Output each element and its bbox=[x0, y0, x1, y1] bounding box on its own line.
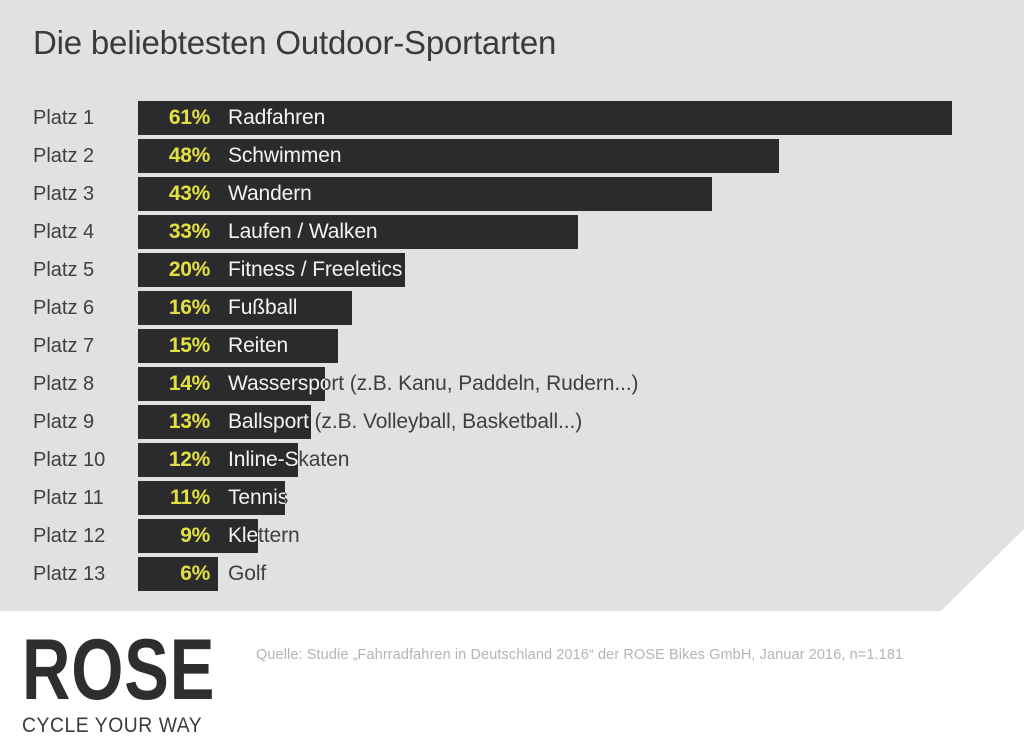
ranking-row: Platz 136%Golf6%Golf bbox=[0, 557, 1024, 595]
value-bar bbox=[138, 253, 405, 287]
value-bar bbox=[138, 405, 311, 439]
ranking-list: Platz 161%Radfahren61%RadfahrenPlatz 248… bbox=[0, 101, 1024, 595]
ranking-row: Platz 1111%Tennis11%Tennis bbox=[0, 481, 1024, 519]
ranking-row: Platz 129%Klettern9%Klettern bbox=[0, 519, 1024, 557]
rank-label: Platz 13 bbox=[33, 557, 105, 591]
infographic: Die beliebtesten Outdoor-Sportarten Plat… bbox=[0, 0, 1024, 744]
ranking-row: Platz 520%Fitness / Freeletics20%Fitness… bbox=[0, 253, 1024, 291]
value-bar bbox=[138, 519, 258, 553]
value-bar bbox=[138, 367, 325, 401]
value-bar bbox=[138, 557, 218, 591]
logo-wordmark: ROSE bbox=[22, 627, 186, 713]
value-bar bbox=[138, 139, 779, 173]
rank-label: Platz 6 bbox=[33, 291, 94, 325]
value-bar bbox=[138, 215, 578, 249]
page-title: Die beliebtesten Outdoor-Sportarten bbox=[33, 24, 556, 62]
rose-logo: ROSE CYCLE YOUR WAY bbox=[22, 627, 232, 738]
ranking-row: Platz 248%Schwimmen48%Schwimmen bbox=[0, 139, 1024, 177]
ranking-row: Platz 715%Reiten15%Reiten bbox=[0, 329, 1024, 367]
rank-label: Platz 1 bbox=[33, 101, 94, 135]
ranking-row: Platz 433%Laufen / Walken33%Laufen / Wal… bbox=[0, 215, 1024, 253]
ranking-row: Platz 616%Fußball16%Fußball bbox=[0, 291, 1024, 329]
ranking-row: Platz 814%Wassersport (z.B. Kanu, Paddel… bbox=[0, 367, 1024, 405]
source-note: Quelle: Studie „Fahrradfahren in Deutsch… bbox=[256, 647, 903, 663]
value-bar bbox=[138, 291, 352, 325]
sport-label-outside: Golf bbox=[228, 557, 266, 591]
ranking-row: Platz 343%Wandern43%Wandern bbox=[0, 177, 1024, 215]
value-bar bbox=[138, 329, 338, 363]
rank-label: Platz 4 bbox=[33, 215, 94, 249]
rank-label: Platz 5 bbox=[33, 253, 94, 287]
value-bar bbox=[138, 177, 712, 211]
value-bar bbox=[138, 443, 298, 477]
value-bar bbox=[138, 481, 285, 515]
rank-label: Platz 12 bbox=[33, 519, 105, 553]
ranking-row: Platz 1012%Inline-Skaten12%Inline-Skaten bbox=[0, 443, 1024, 481]
rank-label: Platz 7 bbox=[33, 329, 94, 363]
rank-label: Platz 2 bbox=[33, 139, 94, 173]
rank-label: Platz 11 bbox=[33, 481, 104, 515]
value-bar bbox=[138, 101, 952, 135]
rank-label: Platz 9 bbox=[33, 405, 94, 439]
ranking-row: Platz 161%Radfahren61%Radfahren bbox=[0, 101, 1024, 139]
rank-label: Platz 3 bbox=[33, 177, 94, 211]
logo-tagline: CYCLE YOUR WAY bbox=[22, 714, 215, 738]
rank-label: Platz 10 bbox=[33, 443, 105, 477]
rank-label: Platz 8 bbox=[33, 367, 94, 401]
ranking-row: Platz 913%Ballsport (z.B. Volleyball, Ba… bbox=[0, 405, 1024, 443]
